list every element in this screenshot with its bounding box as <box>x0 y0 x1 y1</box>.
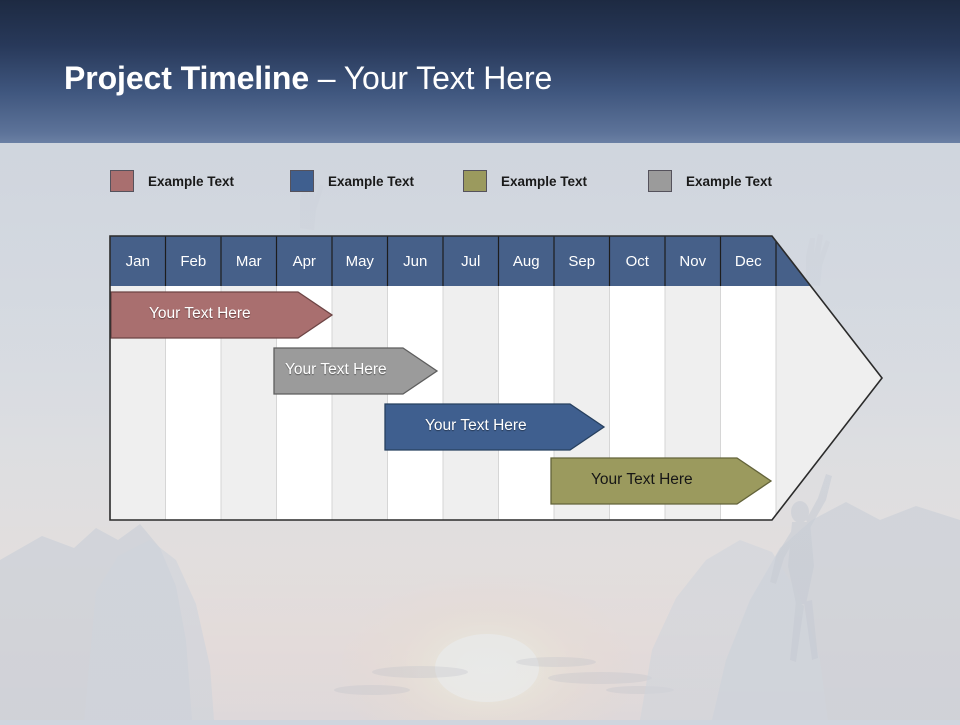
title-banner: Project Timeline – Your Text Here <box>0 0 960 143</box>
month-label: Apr <box>293 253 316 270</box>
color-swatch-icon <box>290 170 314 192</box>
color-swatch-icon <box>463 170 487 192</box>
legend-item-label: Example Text <box>501 174 587 189</box>
legend-item-label: Example Text <box>686 174 772 189</box>
page-title-rest: – Your Text Here <box>309 60 552 96</box>
color-swatch-icon <box>110 170 134 192</box>
page-title: Project Timeline – Your Text Here <box>64 60 552 97</box>
legend-item[interactable]: Example Text <box>463 166 587 196</box>
task-bar[interactable] <box>274 348 437 394</box>
month-label: Aug <box>513 253 540 270</box>
task-bar[interactable] <box>551 458 771 504</box>
legend-item-label: Example Text <box>148 174 234 189</box>
month-label: May <box>346 253 375 270</box>
month-header-row <box>108 234 886 286</box>
task-bar[interactable] <box>385 404 604 450</box>
month-label: Jun <box>403 253 427 270</box>
month-label: Mar <box>236 253 262 270</box>
legend-item[interactable]: Example Text <box>648 166 772 196</box>
task-bar[interactable] <box>111 292 332 338</box>
month-label: Feb <box>180 253 206 270</box>
color-swatch-icon <box>648 170 672 192</box>
legend-item-label: Example Text <box>328 174 414 189</box>
month-label: Dec <box>735 253 762 270</box>
page-title-bold: Project Timeline <box>64 60 309 96</box>
legend-item[interactable]: Example Text <box>110 166 234 196</box>
month-label: Jul <box>461 253 480 270</box>
month-label: Nov <box>679 253 706 270</box>
month-label: Jan <box>126 253 150 270</box>
month-label: Sep <box>568 253 595 270</box>
legend-item[interactable]: Example Text <box>290 166 414 196</box>
legend: Example Text Example Text Example Text E… <box>0 166 960 198</box>
timeline-chart: Jan Feb Mar Apr May Jun Jul Aug Sep Oct … <box>108 234 886 526</box>
month-label: Oct <box>626 253 650 270</box>
